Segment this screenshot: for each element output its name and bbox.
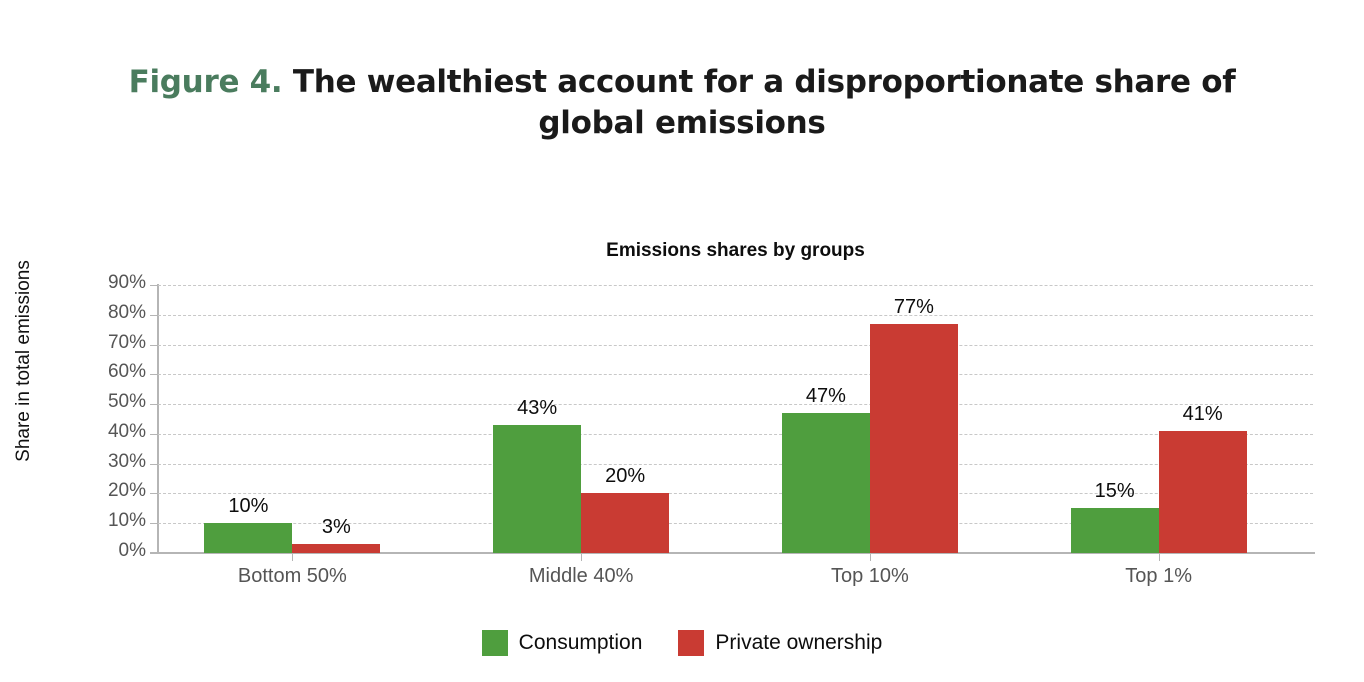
y-tick-mark (150, 523, 158, 524)
y-tick-label: 50% (76, 391, 146, 413)
y-tick-mark (150, 285, 158, 286)
y-tick-mark (150, 315, 158, 316)
y-tick-mark (150, 374, 158, 375)
bar-ownership (292, 544, 380, 553)
y-tick-label: 80% (76, 302, 146, 324)
x-tick-mark (870, 553, 871, 561)
x-tick-mark (1159, 553, 1160, 561)
bar-ownership (581, 493, 669, 553)
gridline (158, 464, 1313, 465)
gridline (158, 315, 1313, 316)
y-tick-mark (150, 434, 158, 435)
y-tick-label: 20% (76, 480, 146, 502)
x-tick-label: Top 1% (1039, 565, 1279, 588)
chart-title: Emissions shares by groups (158, 240, 1313, 262)
chart-legend: ConsumptionPrivate ownership (0, 630, 1364, 656)
gridline (158, 374, 1313, 375)
x-tick-mark (581, 553, 582, 561)
bar-consumption (782, 413, 870, 553)
y-tick-mark (150, 464, 158, 465)
x-tick-mark (292, 553, 293, 561)
y-tick-mark (150, 345, 158, 346)
legend-item[interactable]: Consumption (482, 630, 643, 656)
bar-value-label: 20% (561, 465, 689, 488)
x-tick-label: Bottom 50% (172, 565, 412, 588)
y-tick-label: 90% (76, 272, 146, 294)
gridline (158, 345, 1313, 346)
plot-area: 10%3%43%20%47%77%15%41% (158, 285, 1313, 553)
legend-label: Private ownership (715, 631, 882, 655)
bar-value-label: 10% (184, 495, 312, 518)
y-tick-mark (150, 404, 158, 405)
legend-swatch-icon (678, 630, 704, 656)
y-tick-label: 70% (76, 332, 146, 354)
x-tick-label: Top 10% (750, 565, 990, 588)
gridline (158, 434, 1313, 435)
y-tick-label: 40% (76, 421, 146, 443)
bar-chart: Emissions shares by groups Share in tota… (0, 0, 1364, 682)
y-axis-title: Share in total emissions (13, 211, 35, 511)
x-tick-label: Middle 40% (461, 565, 701, 588)
y-tick-label: 60% (76, 361, 146, 383)
legend-item[interactable]: Private ownership (678, 630, 882, 656)
legend-label: Consumption (519, 631, 643, 655)
bar-consumption (493, 425, 581, 553)
bar-value-label: 77% (850, 296, 978, 319)
bar-consumption (1071, 508, 1159, 553)
bar-ownership (1159, 431, 1247, 553)
legend-swatch-icon (482, 630, 508, 656)
bar-value-label: 43% (473, 397, 601, 420)
y-tick-label: 0% (76, 540, 146, 562)
bar-value-label: 41% (1139, 403, 1267, 426)
y-tick-label: 10% (76, 510, 146, 532)
y-tick-mark (150, 493, 158, 494)
gridline (158, 285, 1313, 286)
y-tick-mark (150, 553, 158, 554)
y-tick-label: 30% (76, 451, 146, 473)
bar-value-label: 3% (272, 516, 400, 539)
bar-ownership (870, 324, 958, 553)
